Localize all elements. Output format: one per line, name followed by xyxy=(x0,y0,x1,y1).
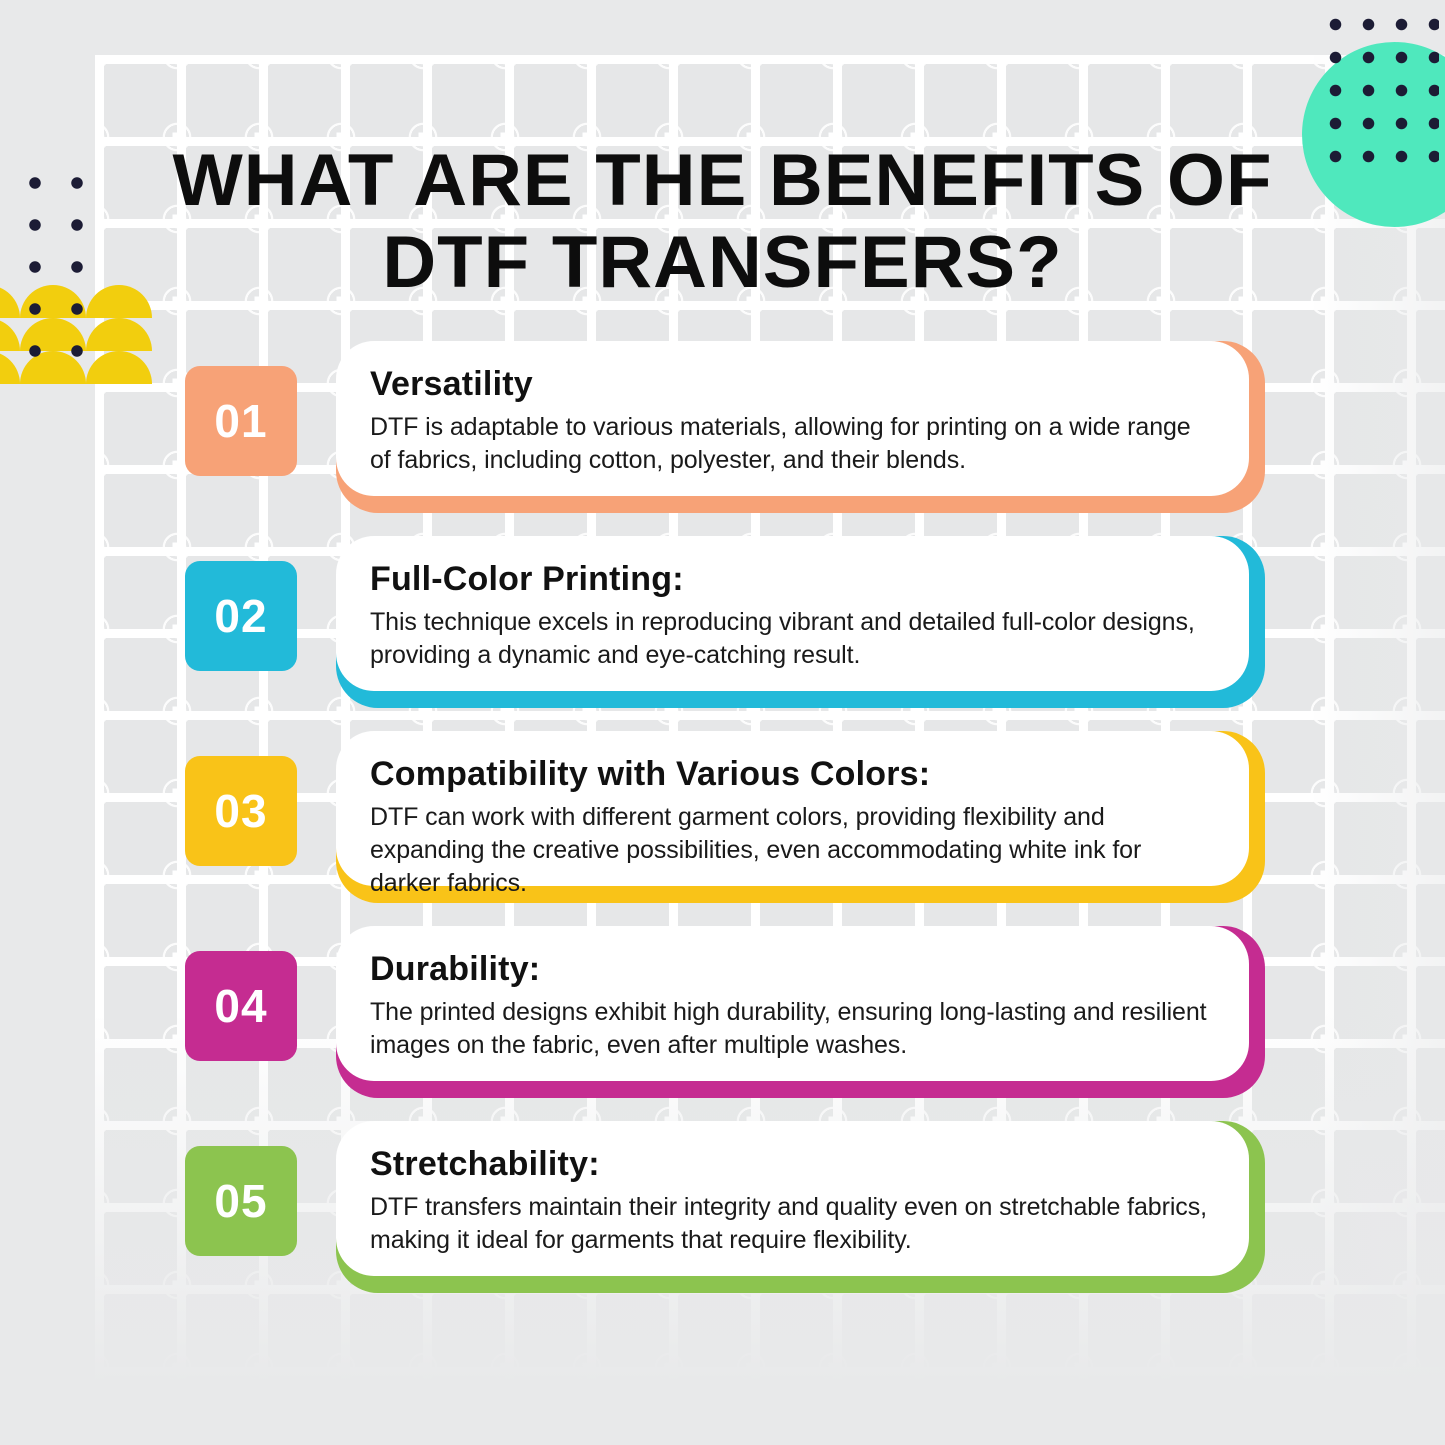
benefit-heading: Stretchability: xyxy=(370,1145,1213,1183)
benefit-card-face: Stretchability: DTF transfers maintain t… xyxy=(336,1121,1249,1276)
benefit-card: Stretchability: DTF transfers maintain t… xyxy=(336,1121,1265,1293)
dome-shape xyxy=(86,318,152,351)
infographic-canvas: WHAT ARE THE BENEFITS OF DTF TRANSFERS? … xyxy=(0,0,1445,1445)
benefit-number-badge: 05 xyxy=(185,1146,297,1256)
benefit-card-face: Compatibility with Various Colors: DTF c… xyxy=(336,731,1249,886)
benefit-card: Durability: The printed designs exhibit … xyxy=(336,926,1265,1098)
dot-grid-top-right xyxy=(1319,8,1439,178)
benefit-card: Full-Color Printing: This technique exce… xyxy=(336,536,1265,708)
benefit-body: DTF transfers maintain their integrity a… xyxy=(370,1191,1213,1257)
page-title: WHAT ARE THE BENEFITS OF DTF TRANSFERS? xyxy=(169,140,1276,304)
benefit-heading: Versatility xyxy=(370,365,1213,403)
benefit-body: DTF is adaptable to various materials, a… xyxy=(370,411,1213,477)
benefit-body: The printed designs exhibit high durabil… xyxy=(370,996,1213,1062)
dot-grid-left xyxy=(14,162,92,374)
benefit-number: 03 xyxy=(214,784,267,838)
benefit-number-badge: 01 xyxy=(185,366,297,476)
benefit-item: Stretchability: DTF transfers maintain t… xyxy=(185,1121,1265,1316)
benefit-card: Versatility DTF is adaptable to various … xyxy=(336,341,1265,513)
benefit-item: Durability: The printed designs exhibit … xyxy=(185,926,1265,1121)
benefit-number-badge: 02 xyxy=(185,561,297,671)
benefit-number: 04 xyxy=(214,979,267,1033)
benefit-body: DTF can work with different garment colo… xyxy=(370,801,1213,900)
benefit-number-badge: 03 xyxy=(185,756,297,866)
dome-shape xyxy=(86,351,152,384)
benefits-list: Versatility DTF is adaptable to various … xyxy=(185,341,1265,1316)
benefit-heading: Durability: xyxy=(370,950,1213,988)
benefit-card-face: Versatility DTF is adaptable to various … xyxy=(336,341,1249,496)
benefit-number: 01 xyxy=(214,394,267,448)
benefit-number: 02 xyxy=(214,589,267,643)
benefit-card-face: Durability: The printed designs exhibit … xyxy=(336,926,1249,1081)
benefit-card: Compatibility with Various Colors: DTF c… xyxy=(336,731,1265,903)
dome-shape xyxy=(86,285,152,318)
benefit-number-badge: 04 xyxy=(185,951,297,1061)
benefit-item: Compatibility with Various Colors: DTF c… xyxy=(185,731,1265,926)
benefit-number: 05 xyxy=(214,1174,267,1228)
benefit-body: This technique excels in reproducing vib… xyxy=(370,606,1213,672)
benefit-item: Versatility DTF is adaptable to various … xyxy=(185,341,1265,536)
benefit-heading: Full-Color Printing: xyxy=(370,560,1213,598)
benefit-card-face: Full-Color Printing: This technique exce… xyxy=(336,536,1249,691)
benefit-heading: Compatibility with Various Colors: xyxy=(370,755,1213,793)
benefit-item: Full-Color Printing: This technique exce… xyxy=(185,536,1265,731)
